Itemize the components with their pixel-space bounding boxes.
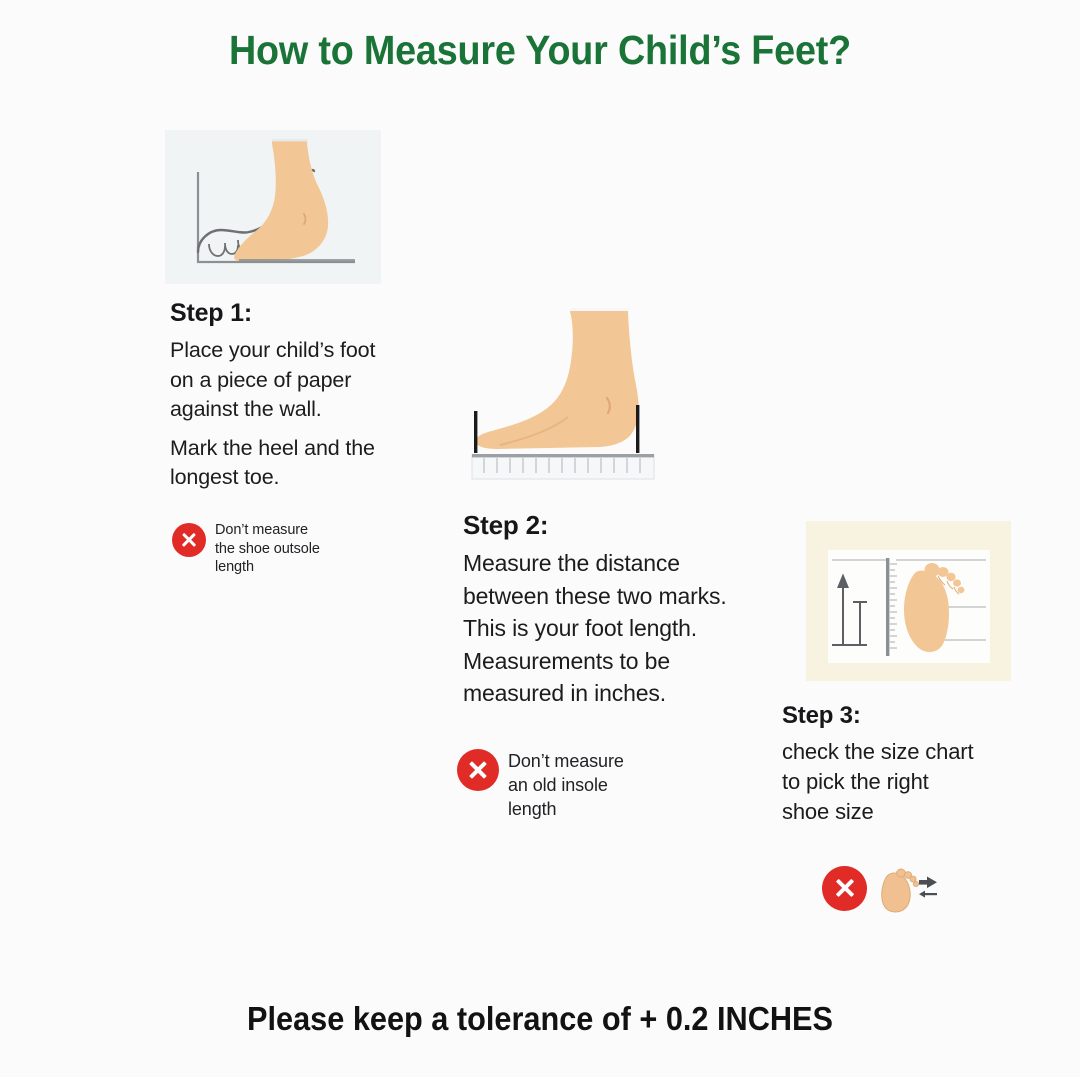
- step-2-heading: Step 2:: [463, 510, 548, 541]
- step-1-line-1: Place your child’s foot: [170, 336, 375, 366]
- page-title: How to Measure Your Child’s Feet?: [43, 27, 1037, 74]
- red-x-circle-icon: [172, 523, 206, 557]
- step-1-text: Place your child’s foot on a piece of pa…: [170, 336, 375, 493]
- step-2-warning-line-3: length: [508, 797, 624, 821]
- step-3-line-1: check the size chart: [782, 737, 973, 767]
- step-2-warning-text: Don’t measure an old insole length: [508, 749, 624, 821]
- step-1-warning-line-1: Don’t measure: [215, 521, 320, 540]
- step-1-line-4: Mark the heel and the: [170, 434, 375, 464]
- step-3-warning: [822, 862, 939, 914]
- infographic-canvas: How to Measure Your Child’s Feet? Step 1…: [0, 0, 1080, 1077]
- step-2-line-5: measured in inches.: [463, 677, 727, 710]
- step-1-warning-line-2: the shoe outsole: [215, 540, 320, 559]
- step-2-line-3: This is your foot length.: [463, 612, 727, 645]
- step-3-chart-panel: [828, 550, 990, 663]
- step-2-warning: Don’t measure an old insole length: [457, 748, 624, 821]
- step-3-illustration: [806, 521, 1011, 681]
- step-3-text: check the size chart to pick the right s…: [782, 737, 973, 827]
- step-2-warning-line-1: Don’t measure: [508, 749, 624, 773]
- step-3-line-3: shoe size: [782, 797, 973, 827]
- step-1-heading: Step 1:: [170, 299, 252, 328]
- step-2-line-4: Measurements to be: [463, 645, 727, 678]
- step-2-illustration: [460, 303, 675, 485]
- red-x-circle-icon: [822, 866, 867, 911]
- step-2-text: Measure the distance between these two m…: [463, 547, 727, 710]
- step-1-warning-line-3: length: [215, 558, 320, 577]
- step-3-heading: Step 3:: [782, 702, 861, 730]
- step-1-warning: Don’t measure the shoe outsole length: [172, 521, 320, 577]
- step-2-warning-line-2: an old insole: [508, 773, 624, 797]
- step-2-line-1: Measure the distance: [463, 547, 727, 580]
- step-2-line-2: between these two marks.: [463, 580, 727, 613]
- step-1-line-5: longest toe.: [170, 463, 375, 493]
- step-1-illustration: [165, 130, 381, 284]
- step-1-line-2: on a piece of paper: [170, 366, 375, 396]
- step-1-warning-text: Don’t measure the shoe outsole length: [215, 521, 320, 577]
- step-1-line-3: against the wall.: [170, 395, 375, 425]
- tolerance-note: Please keep a tolerance of + 0.2 INCHES: [38, 1000, 1042, 1038]
- footprint-with-arrows-icon: [875, 862, 939, 914]
- step-3-line-2: to pick the right: [782, 767, 973, 797]
- red-x-circle-icon: [457, 749, 499, 791]
